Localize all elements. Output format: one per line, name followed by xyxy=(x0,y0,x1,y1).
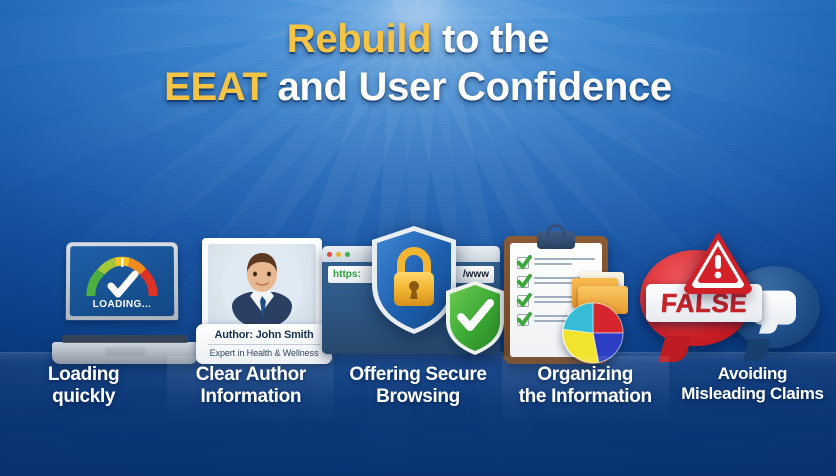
url-https-prefix: https: xyxy=(333,269,361,280)
caption-2: Clear AuthorInformation xyxy=(167,356,334,424)
checklist-row[interactable] xyxy=(517,257,595,269)
window-minimize-dot xyxy=(336,252,341,257)
check-icon xyxy=(515,253,533,271)
caption-line-1: Loading xyxy=(48,364,119,386)
divider xyxy=(208,344,320,345)
portrait-icon xyxy=(208,244,316,328)
check-icon xyxy=(515,310,533,328)
laptop-keyboard xyxy=(62,335,188,343)
laptop-trackpad xyxy=(105,347,145,356)
verified-shield-icon xyxy=(444,280,506,356)
caption-line-2: Misleading Claims xyxy=(681,384,823,404)
caption-line-2: Browsing xyxy=(376,386,460,408)
caption-line-1: Avoiding xyxy=(718,364,787,384)
caption-line-2: the Information xyxy=(519,386,652,408)
icon-band: LOADING... xyxy=(0,196,836,364)
infographic-canvas: Rebuild to the EEAT and User Confidence xyxy=(0,0,836,476)
laptop-screen: LOADING... xyxy=(66,242,179,320)
caption-row: LoadingquicklyClear AuthorInformationOff… xyxy=(0,356,836,424)
laptop-display: LOADING... xyxy=(70,246,174,316)
author-photo-card xyxy=(202,238,322,334)
icon-organized-information xyxy=(500,230,640,364)
icon-laptop-loading: LOADING... xyxy=(52,242,198,364)
clipboard-clip xyxy=(537,231,575,249)
checkbox-checked[interactable] xyxy=(517,276,529,288)
title-word-eeat: EEAT xyxy=(164,65,267,109)
check-icon xyxy=(515,272,533,290)
text-line xyxy=(534,282,572,284)
caption-line-1: Offering Secure xyxy=(349,364,486,386)
icon-secure-browsing: https: /www xyxy=(316,224,508,364)
caption-1: Loadingquickly xyxy=(0,356,167,424)
text-line xyxy=(534,258,595,260)
author-name: Author: John Smith xyxy=(202,329,326,341)
text-line xyxy=(534,301,572,303)
caption-line-1: Clear Author xyxy=(196,364,306,386)
caption-line-2: Information xyxy=(200,386,301,408)
window-maximize-dot xyxy=(345,252,350,257)
warning-triangle-icon xyxy=(682,230,754,294)
caption-line-2: quickly xyxy=(52,386,115,408)
checklist-text-lines xyxy=(534,258,595,268)
title-words-user-confidence: and User Confidence xyxy=(277,65,671,109)
text-line xyxy=(534,263,572,265)
url-www-suffix: /www xyxy=(463,269,489,280)
speed-gauge-icon xyxy=(85,254,159,300)
icon-misleading-claims: FALSE xyxy=(634,236,794,364)
caption-4: Organizingthe Information xyxy=(502,356,669,424)
check-icon xyxy=(515,291,533,309)
caption-5: AvoidingMisleading Claims xyxy=(669,356,836,424)
title-words-to-the: to the xyxy=(442,17,549,61)
caption-line-1: Organizing xyxy=(537,364,633,386)
loading-text: LOADING... xyxy=(70,299,174,310)
icon-author-card: Author: John Smith Expert in Health & We… xyxy=(196,238,332,364)
page-title: Rebuild to the EEAT and User Confidence xyxy=(0,18,836,109)
checkbox-checked[interactable] xyxy=(517,257,529,269)
title-word-rebuild: Rebuild xyxy=(287,17,432,61)
checkbox-checked[interactable] xyxy=(517,295,529,307)
pie-chart-icon xyxy=(562,302,624,364)
avatar xyxy=(208,244,316,328)
caption-3: Offering SecureBrowsing xyxy=(334,356,501,424)
checkbox-checked[interactable] xyxy=(517,314,529,326)
window-close-dot xyxy=(327,252,332,257)
